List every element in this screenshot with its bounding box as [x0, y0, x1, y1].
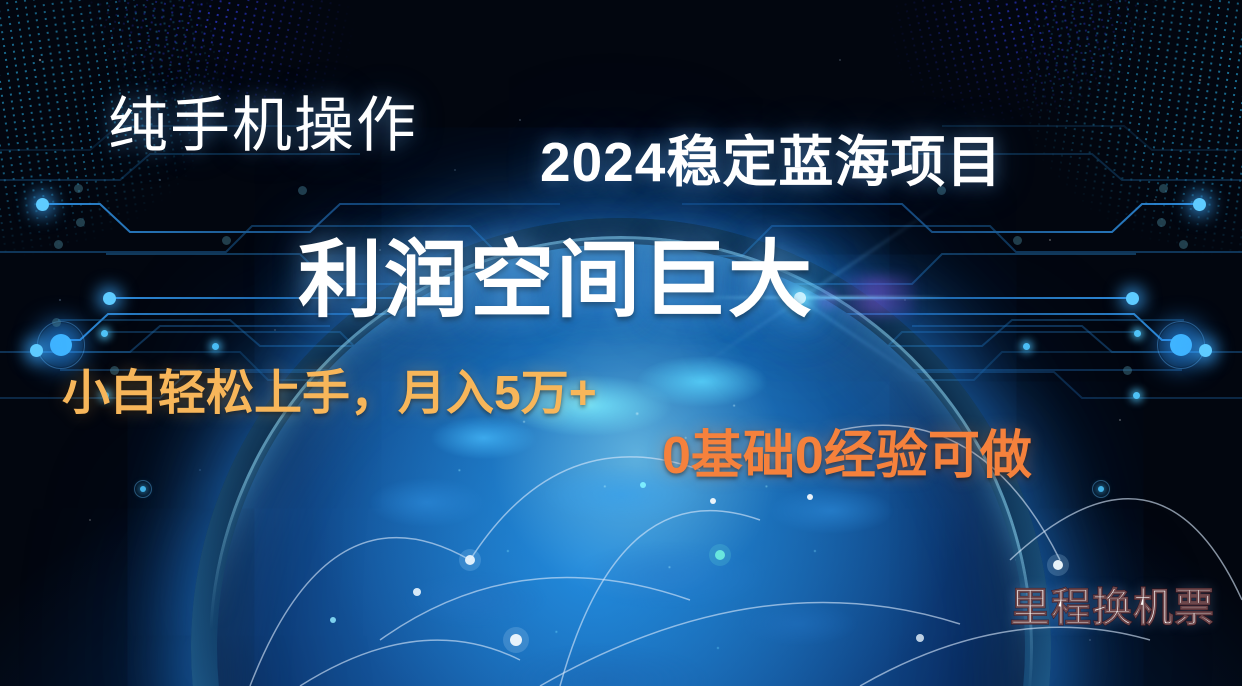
circuit-node	[36, 198, 49, 211]
circuit-node	[1193, 198, 1206, 211]
tagline-year-project: 2024稳定蓝海项目	[540, 135, 1002, 190]
circuit-node-dim	[74, 184, 83, 193]
circuit-node-dim	[298, 186, 307, 195]
circuit-node-dim	[52, 318, 61, 327]
subtitle-beginner-income: 小白轻松上手，月入5万+	[62, 370, 597, 418]
circuit-node-small	[1133, 392, 1140, 399]
circuit-node-dim	[76, 218, 85, 227]
circuit-node-dim	[54, 240, 63, 249]
circuit-node-small	[1134, 330, 1141, 337]
circuit-node	[1199, 344, 1212, 357]
circuit-node-large	[1170, 334, 1192, 356]
promo-poster: 纯手机操作 2024稳定蓝海项目 利润空间巨大 小白轻松上手，月入5万+ 0基础…	[0, 0, 1242, 686]
circuit-node-small	[101, 330, 108, 337]
subtitle-no-experience: 0基础0经验可做	[662, 430, 1032, 482]
circuit-node-dim	[1123, 366, 1132, 375]
circuit-node-dim	[1159, 184, 1168, 193]
circuit-node	[103, 292, 116, 305]
circuit-node	[1126, 292, 1139, 305]
tagline-phone-operation: 纯手机操作	[108, 96, 418, 156]
page-title: 利润空间巨大	[298, 238, 814, 322]
circuit-node-dim	[1179, 240, 1188, 249]
brand-watermark: 里程换机票	[1010, 588, 1215, 628]
circuit-node-ring	[134, 480, 152, 498]
circuit-node-large	[50, 334, 72, 356]
circuit-node	[30, 344, 43, 357]
circuit-node-dim	[1157, 218, 1166, 227]
circuit-node-ring	[1092, 480, 1110, 498]
